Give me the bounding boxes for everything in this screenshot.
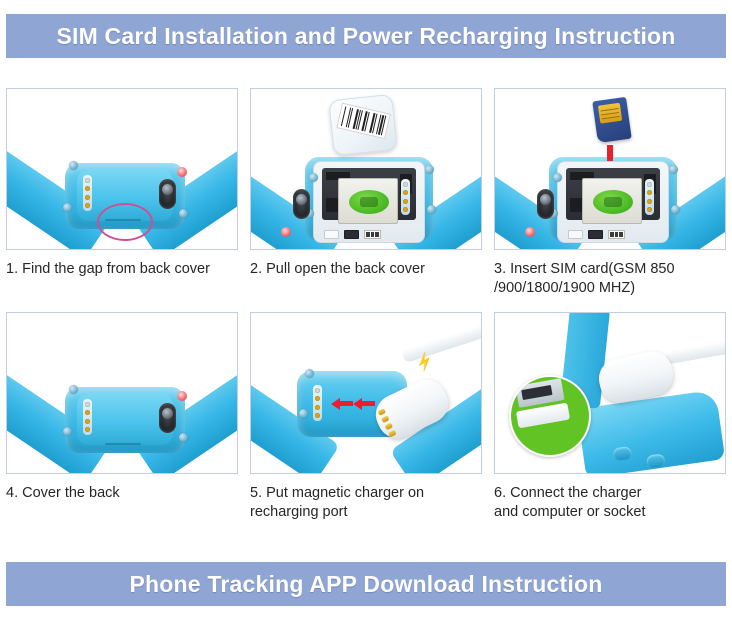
back-cover-open-illustration (251, 89, 481, 249)
top-banner: SIM Card Installation and Power Rechargi… (6, 14, 726, 58)
contact-pin (85, 195, 90, 200)
step-image-6 (494, 312, 726, 474)
contact-pin (647, 207, 652, 212)
contact-pin (85, 203, 90, 208)
step-caption-1: 1. Find the gap from back cover (6, 260, 238, 279)
indicator-light (525, 227, 535, 237)
step-cell-5: ⚡ 5. Put magnetic charger on recharging … (250, 312, 482, 522)
dip-switch (364, 230, 381, 239)
contact-pin (85, 178, 90, 183)
watch-side-button (613, 446, 633, 461)
contact-pin (403, 207, 408, 212)
step-caption-3: 3. Insert SIM card(GSM 850 /900/1800/190… (494, 260, 726, 298)
contact-pin (85, 410, 90, 415)
instruction-grid: 1. Find the gap from back cover (6, 88, 726, 536)
screw-top-left (69, 161, 78, 170)
step-image-4 (6, 312, 238, 474)
screw-bottom-right (671, 205, 680, 214)
step-caption-2: 2. Pull open the back cover (250, 260, 482, 279)
indicator-light (281, 227, 291, 237)
port-row (568, 230, 625, 239)
screw-top-left (69, 385, 78, 394)
screw-bottom-left (299, 409, 308, 418)
contact-pin (85, 402, 90, 407)
back-cover-seam (105, 443, 141, 445)
charger-pin (388, 430, 396, 438)
magnetic-charger-illustration: ⚡ (251, 313, 481, 473)
sim-insert-illustration (495, 89, 725, 249)
contact-pin (85, 427, 90, 432)
camera-sensor (159, 403, 176, 433)
port-row (324, 230, 381, 239)
step-image-1 (6, 88, 238, 250)
charger-pin (381, 415, 389, 423)
camera-sensor (159, 179, 176, 209)
step-image-3 (494, 88, 726, 250)
screw-bottom-left (63, 427, 72, 436)
screw-left (553, 173, 562, 182)
barcode-label (336, 103, 391, 140)
screw-left (309, 173, 318, 182)
step-caption-4: 4. Cover the back (6, 484, 238, 503)
contact-pin (403, 190, 408, 195)
screw-bottom-left (63, 203, 72, 212)
step-cell-2: 2. Pull open the back cover (250, 88, 482, 298)
step-cell-4: 4. Cover the back (6, 312, 238, 522)
screw-right (425, 165, 434, 174)
screw-bottom-right (179, 209, 188, 218)
speaker-port (344, 230, 359, 239)
sim-card-slot (338, 178, 398, 224)
speaker-port (324, 230, 339, 239)
screw-bottom-right (427, 205, 436, 214)
instruction-row-2: 4. Cover the back (6, 312, 726, 522)
charging-contacts (645, 179, 654, 215)
bottom-banner: Phone Tracking APP Download Instruction (6, 562, 726, 606)
charger-pin (378, 408, 386, 416)
sim-chip (598, 103, 622, 124)
charger-cable (664, 339, 726, 365)
charging-contacts (83, 399, 92, 435)
step-caption-5: 5. Put magnetic charger on recharging po… (250, 484, 482, 522)
contact-pin (647, 190, 652, 195)
contact-pin (85, 419, 90, 424)
contact-pin (315, 405, 320, 410)
contact-pin (647, 182, 652, 187)
detached-back-cover (328, 94, 398, 156)
step-image-5: ⚡ (250, 312, 482, 474)
attach-direction-arrow (339, 401, 353, 406)
watch-back-covered-illustration (7, 313, 237, 473)
dip-switch (608, 230, 625, 239)
charger-pin (385, 423, 393, 431)
contact-pin (647, 199, 652, 204)
charger-connected-illustration (495, 313, 725, 473)
contact-pin (85, 186, 90, 191)
green-sticker (349, 190, 389, 214)
sim-card (592, 97, 632, 143)
camera-sensor (537, 189, 554, 219)
step-cell-3: 3. Insert SIM card(GSM 850 /900/1800/190… (494, 88, 726, 298)
speaker-port (588, 230, 603, 239)
charging-contacts (401, 179, 410, 215)
gap-highlight-ellipse (97, 203, 153, 241)
indicator-light (177, 391, 187, 401)
step-cell-6: 6. Connect the charger and computer or s… (494, 312, 726, 522)
screw-right (669, 165, 678, 174)
screw-bottom-right (179, 433, 188, 442)
contact-pin (315, 413, 320, 418)
top-banner-title: SIM Card Installation and Power Rechargi… (56, 23, 675, 50)
sim-card-slot (582, 178, 642, 224)
screw-top-left (305, 369, 314, 378)
bottom-banner-title: Phone Tracking APP Download Instruction (130, 571, 603, 598)
charging-contacts (313, 385, 322, 421)
attach-direction-arrow (361, 401, 375, 406)
contact-pin (315, 396, 320, 401)
contact-pin (315, 388, 320, 393)
watch-side-button (646, 453, 666, 468)
step-cell-1: 1. Find the gap from back cover (6, 88, 238, 298)
watch-back-closed-illustration (7, 89, 237, 249)
green-sticker (593, 190, 633, 214)
step-image-2 (250, 88, 482, 250)
camera-sensor (293, 189, 310, 219)
step-caption-6: 6. Connect the charger and computer or s… (494, 484, 726, 522)
contact-pin (403, 182, 408, 187)
contact-pin (403, 199, 408, 204)
usb-detail-inset (509, 375, 591, 457)
speaker-port (568, 230, 583, 239)
instruction-row-1: 1. Find the gap from back cover (6, 88, 726, 298)
indicator-light (177, 167, 187, 177)
charging-contacts (83, 175, 92, 211)
